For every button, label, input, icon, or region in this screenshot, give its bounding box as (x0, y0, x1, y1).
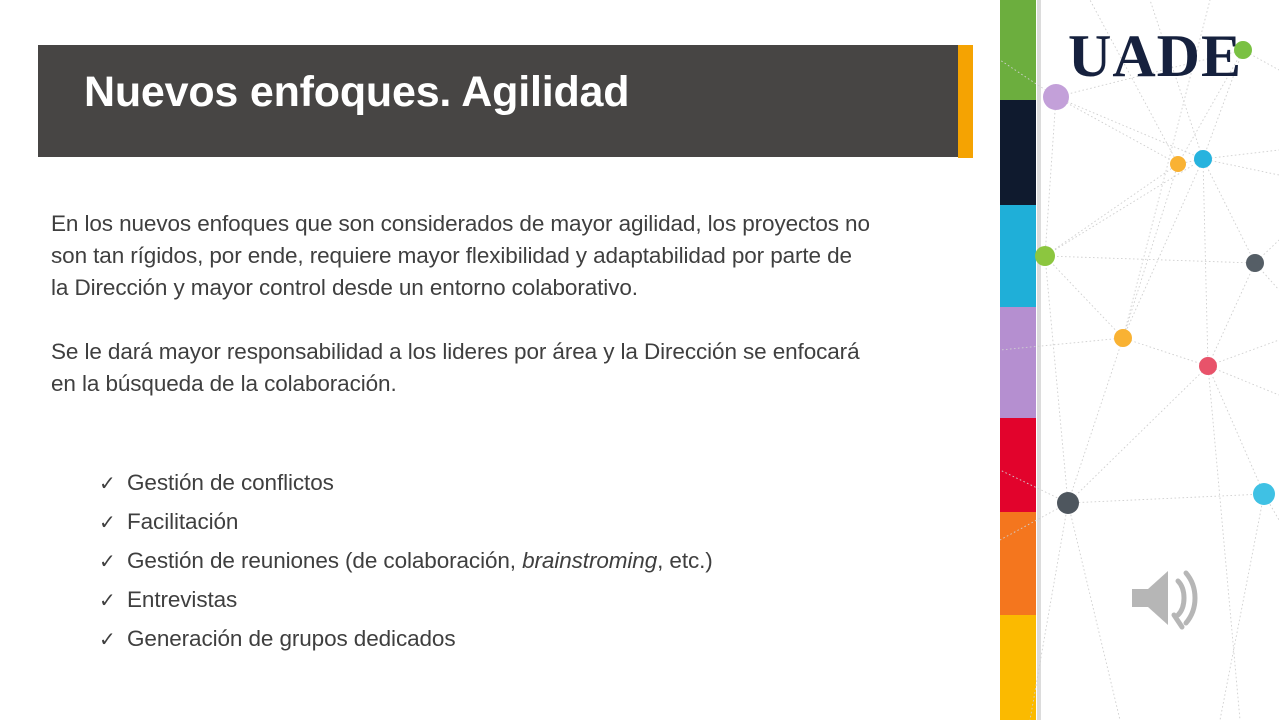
network-edge (1123, 338, 1208, 366)
network-edge (1045, 159, 1203, 256)
list-item-label: Gestión de conflictos (127, 464, 334, 502)
network-edge (1203, 159, 1208, 366)
network-edge (1045, 164, 1178, 256)
node-cyan-lower (1253, 483, 1275, 505)
body-text-area: En los nuevos enfoques que son considera… (51, 208, 951, 400)
paragraph-1: En los nuevos enfoques que son considera… (51, 208, 951, 304)
network-edge (1030, 503, 1068, 720)
node-amber-lower (1114, 329, 1132, 347)
network-edge (1000, 338, 1123, 350)
network-edge (1045, 256, 1068, 503)
list-item: ✓Gestión de reuniones (de colaboración, … (99, 542, 919, 581)
list-item-label: Facilitación (127, 503, 238, 541)
network-edge (1203, 150, 1279, 159)
network-edge (1068, 366, 1208, 503)
list-item: ✓Entrevistas (99, 581, 919, 620)
network-edge (1208, 366, 1264, 494)
network-edge (1068, 503, 1120, 720)
checklist: ✓Gestión de conflictos✓Facilitación✓Gest… (99, 464, 919, 659)
network-edge (1045, 97, 1056, 256)
network-edge (1208, 366, 1279, 395)
list-item-label: Generación de grupos dedicados (127, 620, 455, 658)
slide-root: Nuevos enfoques. Agilidad En los nuevos … (0, 0, 1279, 720)
node-cyan-upper (1194, 150, 1212, 168)
check-icon: ✓ (99, 582, 127, 620)
node-green-left (1035, 246, 1055, 266)
network-edge (1068, 494, 1264, 503)
node-amber-upper (1170, 156, 1186, 172)
node-gray-bottom (1057, 492, 1079, 514)
check-icon: ✓ (99, 621, 127, 659)
node-red (1199, 357, 1217, 375)
network-edge (1056, 97, 1178, 164)
list-item: ✓Facilitación (99, 503, 919, 542)
right-decorative-panel: UADE (1000, 0, 1279, 720)
network-edge (1056, 97, 1203, 159)
network-edge (1203, 159, 1255, 263)
network-edge (1123, 164, 1178, 338)
speaker-icon[interactable] (1128, 565, 1208, 631)
network-edge (1203, 159, 1279, 175)
paragraph-2: Se le dará mayor responsabilidad a los l… (51, 336, 951, 400)
check-icon: ✓ (99, 543, 127, 581)
list-item-label: Gestión de reuniones (de colaboración, b… (127, 542, 713, 580)
network-edge (1045, 256, 1255, 263)
network-edge (1068, 338, 1123, 503)
network-edge (1208, 366, 1240, 720)
network-edge (1123, 159, 1203, 338)
page-title: Nuevos enfoques. Agilidad (84, 69, 944, 116)
title-accent-bar (958, 45, 973, 158)
node-green-top (1234, 41, 1252, 59)
uade-logo: UADE (1068, 26, 1242, 86)
node-gray-right (1246, 254, 1264, 272)
list-item: ✓Generación de grupos dedicados (99, 620, 919, 659)
network-edge (1220, 494, 1264, 720)
list-item: ✓Gestión de conflictos (99, 464, 919, 503)
check-icon: ✓ (99, 465, 127, 503)
network-edge (1208, 340, 1279, 366)
network-edge (1045, 256, 1123, 338)
check-icon: ✓ (99, 504, 127, 542)
list-item-emphasis: brainstroming (522, 548, 657, 573)
node-orchid (1043, 84, 1069, 110)
network-edge (1208, 263, 1255, 366)
list-item-label: Entrevistas (127, 581, 237, 619)
